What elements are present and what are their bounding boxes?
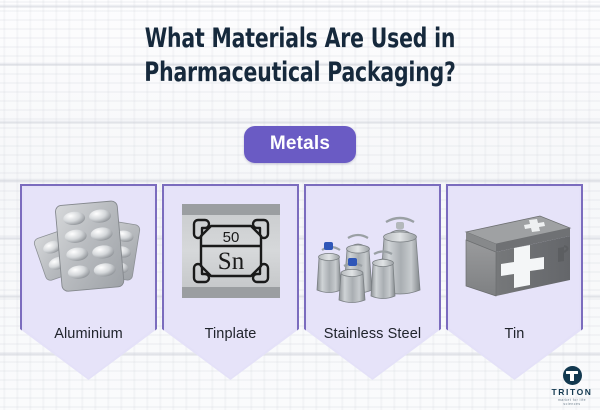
material-card-tin: Tin — [446, 184, 583, 380]
category-badge-wrap: Metals — [0, 126, 600, 163]
element-number: 50 — [222, 229, 239, 246]
triton-t-icon — [563, 366, 582, 385]
card-label-tin: Tin — [450, 326, 579, 342]
element-symbol: Sn — [217, 248, 244, 275]
logo-wordmark: TRITON — [551, 387, 593, 397]
material-card-stainless-steel: Stainless Steel — [304, 184, 441, 380]
material-card-aluminium: Aluminium — [20, 184, 157, 380]
card-inner: Aluminium — [24, 188, 153, 378]
card-label-stainless-steel: Stainless Steel — [308, 326, 437, 342]
card-inner: Stainless Steel — [308, 188, 437, 378]
card-label-aluminium: Aluminium — [24, 326, 153, 342]
logo-tagline: market for life sciences — [551, 398, 593, 406]
first-aid-tin-box-icon — [450, 196, 579, 316]
material-card-row: Aluminium — [0, 184, 600, 384]
card-inner: Tin — [450, 188, 579, 378]
title-line-2: Pharmaceutical Packaging? — [48, 56, 552, 90]
card-inner: 50 Sn Tinplate — [166, 188, 295, 378]
material-card-tinplate: 50 Sn Tinplate — [162, 184, 299, 380]
title-line-1: What Materials Are Used in — [48, 22, 552, 56]
infographic-canvas: What Materials Are Used in Pharmaceutica… — [0, 0, 600, 410]
triton-logo: TRITON market for life sciences — [551, 366, 593, 406]
blister-pack-icon — [24, 196, 153, 316]
page-title: What Materials Are Used in Pharmaceutica… — [0, 22, 600, 90]
steel-canisters-icon — [308, 196, 437, 316]
tin-element-tile-icon: 50 Sn — [166, 196, 295, 316]
category-badge: Metals — [244, 126, 356, 163]
card-label-tinplate: Tinplate — [166, 326, 295, 342]
